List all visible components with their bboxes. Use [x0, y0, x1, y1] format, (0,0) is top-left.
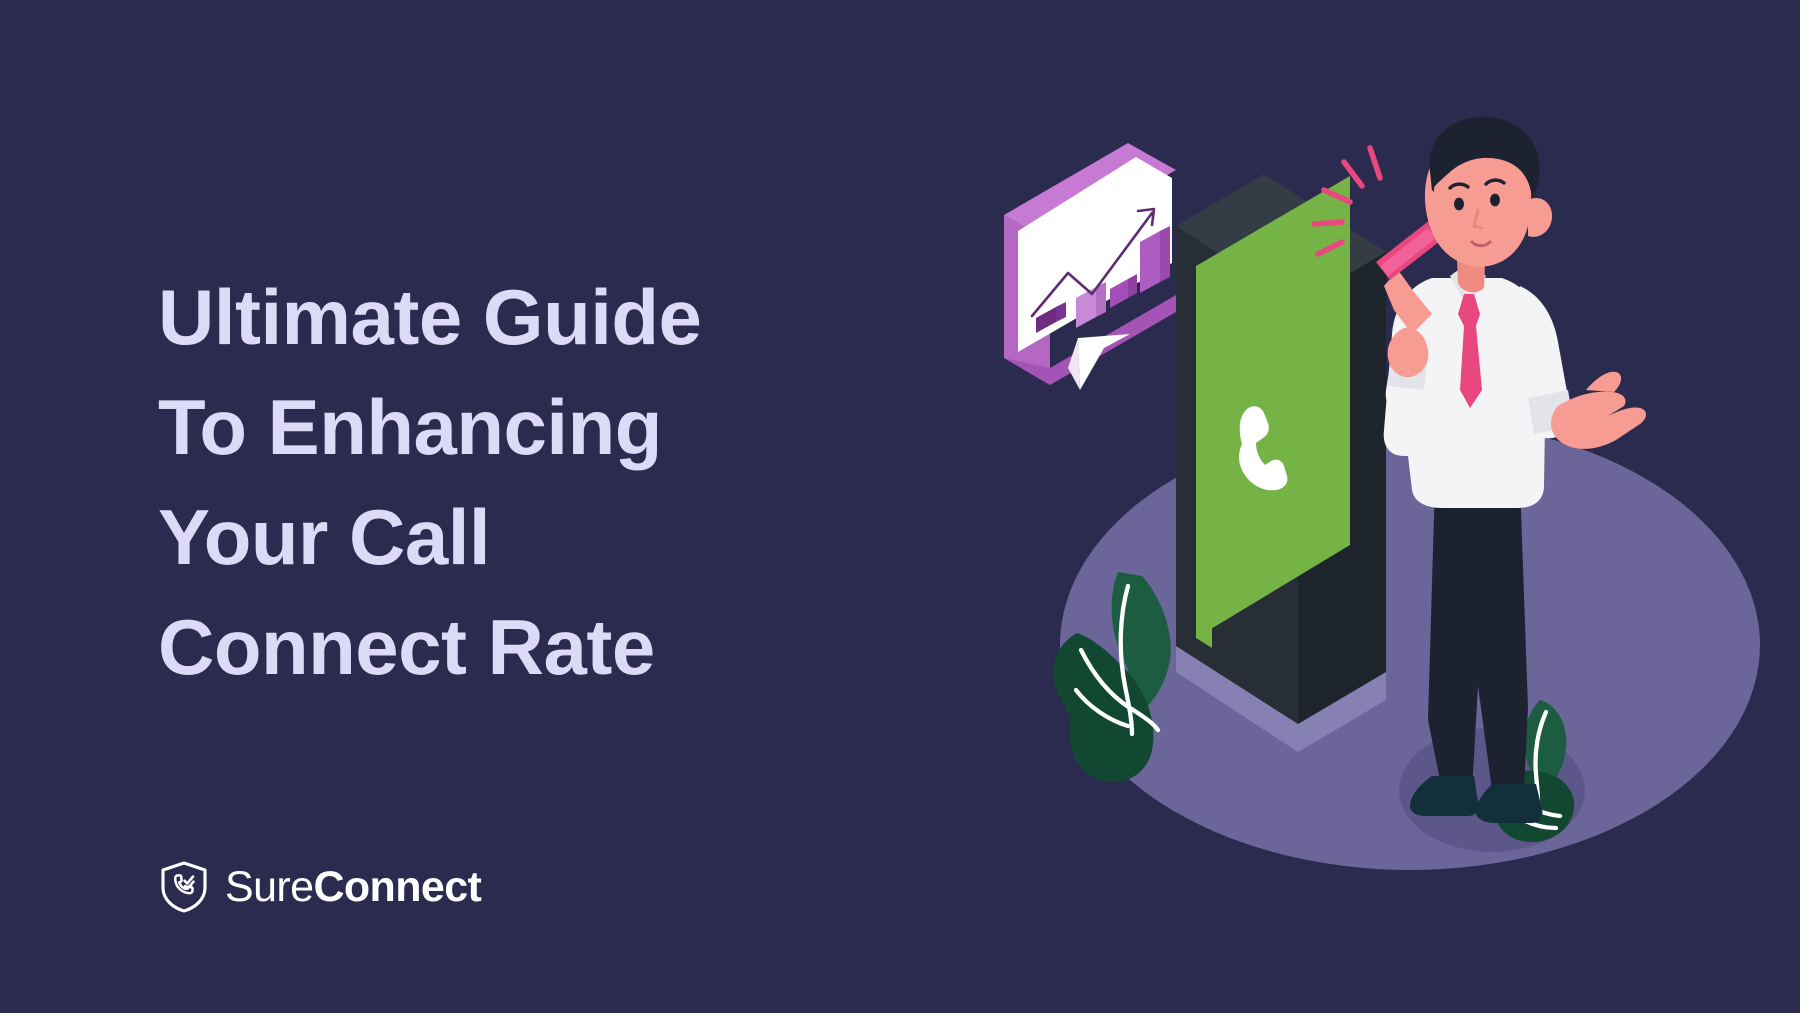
left-content-column: Ultimate Guide To Enhancing Your Call Co… — [158, 0, 918, 1013]
brand-word-connect: Connect — [313, 863, 481, 911]
headline-line-1: Ultimate Guide — [158, 262, 898, 372]
call-connect-scene — [980, 90, 1800, 930]
page-title: Ultimate Guide To Enhancing Your Call Co… — [158, 262, 898, 702]
hero-illustration — [980, 90, 1800, 930]
hero-banner: Ultimate Guide To Enhancing Your Call Co… — [0, 0, 1800, 1013]
ear — [1528, 198, 1552, 237]
chart-speech-bubble — [1004, 143, 1176, 390]
eye-left — [1454, 198, 1464, 211]
headline-line-4: Connect Rate — [158, 592, 898, 702]
headline-line-3: Your Call — [158, 482, 898, 592]
isometric-phone — [1176, 174, 1386, 752]
eye-right — [1490, 194, 1500, 207]
brand-word-sure: Sure — [225, 863, 313, 911]
brand-logo-wordmark: SureConnect — [225, 866, 481, 909]
shield-phone-check-icon — [160, 861, 208, 913]
brand-logo[interactable]: SureConnect — [160, 858, 481, 916]
headline-line-2: To Enhancing — [158, 372, 898, 482]
